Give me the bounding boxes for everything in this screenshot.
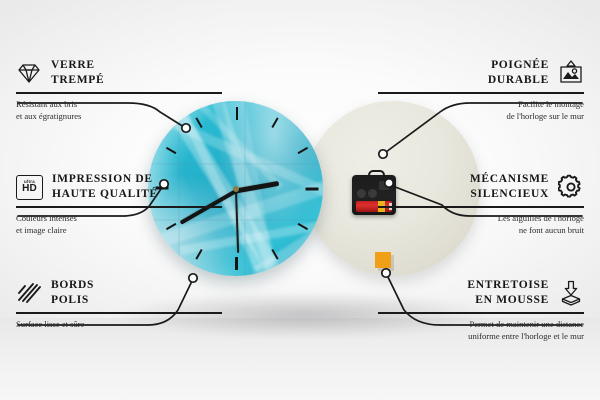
feature-impression-haute-qualite: ultra HD IMPRESSION DEHAUTE QUALITÉ Coul… <box>16 172 222 236</box>
feature-divider <box>16 206 222 208</box>
feature-mecanisme-silencieux: MÉCANISMESILENCIEUX Les aiguilles de l'h… <box>378 172 584 236</box>
feature-header: BORDSPOLIS <box>16 278 222 308</box>
infographic-page: VERRETREMPÉ Résistant aux briset aux égr… <box>0 0 600 400</box>
mechanism-dial <box>357 189 366 198</box>
clock-tick <box>236 107 239 120</box>
mechanism-dial <box>368 189 377 198</box>
feature-bords-polis: BORDSPOLIS Surface lisse et sûre <box>16 278 222 330</box>
feature-divider <box>378 92 584 94</box>
clock-tick <box>235 257 238 270</box>
feature-divider <box>378 206 584 208</box>
feature-divider <box>16 312 222 314</box>
clock-center-hub <box>233 186 239 192</box>
feature-title: ENTRETOISEEN MOUSSE <box>467 278 549 308</box>
foam-spacer-pad <box>375 252 391 268</box>
feature-header: ultra HD IMPRESSION DEHAUTE QUALITÉ <box>16 172 222 202</box>
diagonal-stripes-icon <box>16 280 42 306</box>
diamond-icon <box>16 60 42 86</box>
feature-description: Les aiguilles de l'horlogene font aucun … <box>378 212 584 236</box>
feature-description: Permet de maintenir une distanceuniforme… <box>378 318 584 342</box>
ultra-hd-icon: ultra HD <box>16 175 43 200</box>
arrow-down-layers-icon <box>558 280 584 306</box>
feature-verre-trempe: VERRETREMPÉ Résistant aux briset aux égr… <box>16 58 222 122</box>
gear-icon <box>558 174 584 200</box>
feature-title: IMPRESSION DEHAUTE QUALITÉ <box>52 172 158 202</box>
feature-description: Couleurs intenseset image claire <box>16 212 222 236</box>
feature-header: VERRETREMPÉ <box>16 58 222 88</box>
feature-description: Surface lisse et sûre <box>16 318 222 330</box>
clock-tick <box>305 188 318 191</box>
feature-title: BORDSPOLIS <box>51 278 94 308</box>
feature-title: MÉCANISMESILENCIEUX <box>470 172 549 202</box>
feature-title: VERRETREMPÉ <box>51 58 104 88</box>
feature-entretoise-en-mousse: ENTRETOISEEN MOUSSE Permet de maintenir … <box>378 278 584 342</box>
feature-description: Facilite le montagede l'horloge sur le m… <box>378 98 584 122</box>
hanging-picture-frame-icon <box>558 60 584 86</box>
feature-poignee-durable: POIGNÉEDURABLE Facilite le montagede l'h… <box>378 58 584 122</box>
feature-divider <box>378 312 584 314</box>
feature-divider <box>16 92 222 94</box>
feature-header: MÉCANISMESILENCIEUX <box>378 172 584 202</box>
feature-description: Résistant aux briset aux égratignures <box>16 98 222 122</box>
feature-header: ENTRETOISEEN MOUSSE <box>378 278 584 308</box>
feature-header: POIGNÉEDURABLE <box>378 58 584 88</box>
feature-title: POIGNÉEDURABLE <box>488 58 549 88</box>
